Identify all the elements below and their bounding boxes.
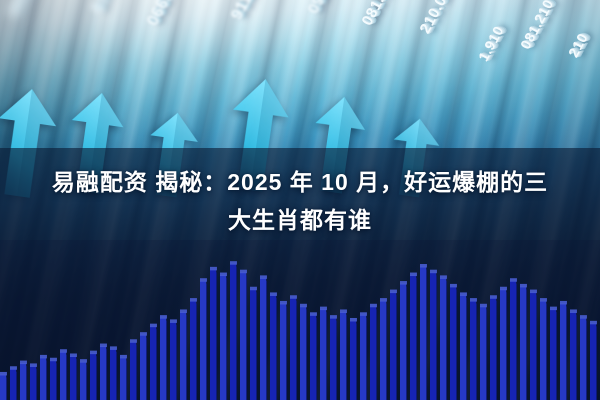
page-title-line-2: 大生肖都有谁 [14,201,586,239]
page-title: 易融配资 揭秘：2025 年 10 月，好运爆棚的三 大生肖都有谁 [0,163,600,239]
bar-chart-skyline [0,240,600,400]
bar-chart-svg [0,240,600,400]
banner-image: 094.4071.41066.150911.810091.52081.21021… [0,0,600,400]
page-title-line-1: 易融配资 揭秘：2025 年 10 月，好运爆棚的三 [14,163,586,201]
chart-shadow-wash [0,240,600,400]
